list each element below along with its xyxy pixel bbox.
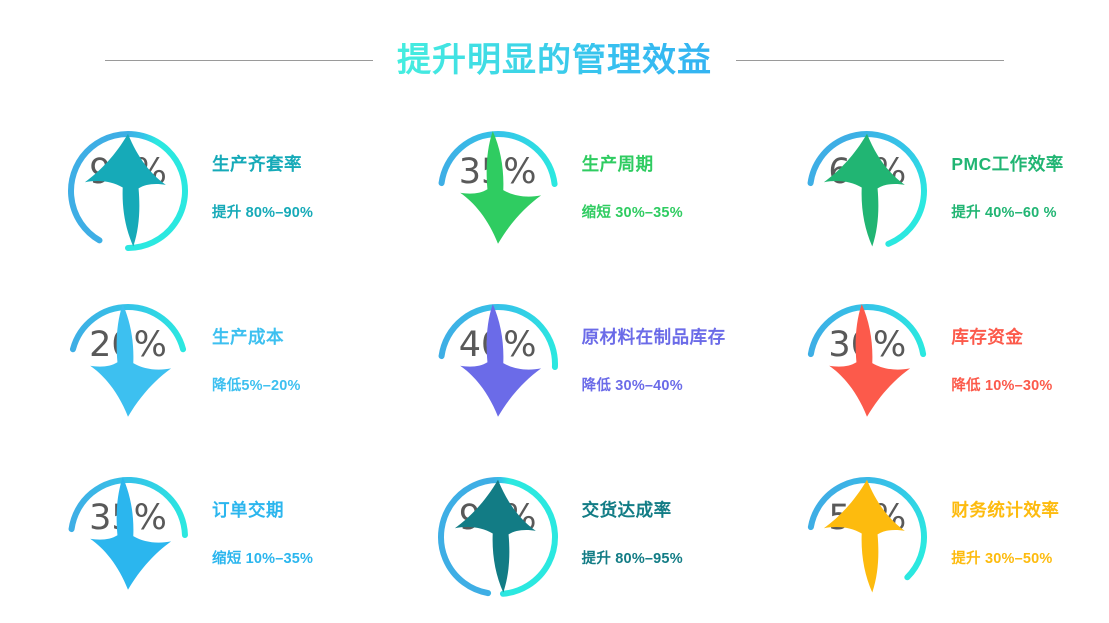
metric-subtitle: 降低5%–20% [212, 374, 301, 395]
header-rule-right [736, 60, 1004, 61]
progress-ring: 95% [432, 471, 564, 603]
metric-subtitle: 提升 30%–50% [951, 547, 1052, 568]
gauge-center: 90% [62, 125, 194, 257]
metric-texts: PMC工作效率 提升 40%–60 % [951, 154, 1063, 222]
metric-cell: 60% PMC工作效率 提升 40%–60 % [739, 104, 1109, 277]
metric-title: 原材料在制品库存 [582, 327, 726, 348]
gauge-center: 35% [62, 471, 194, 603]
gauge-center: 35% [432, 125, 564, 257]
metric-title: 生产成本 [212, 327, 284, 348]
gauge-center: 95% [432, 471, 564, 603]
metric-texts: 财务统计效率 提升 30%–50% [951, 500, 1059, 568]
metric-subtitle: 缩短 10%–35% [212, 547, 313, 568]
metric-texts: 生产成本 降低5%–20% [212, 327, 301, 395]
metric-title: 库存资金 [951, 327, 1023, 348]
progress-ring: 35% [432, 125, 564, 257]
metric-subtitle: 提升 80%–95% [582, 547, 683, 568]
progress-ring: 90% [62, 125, 194, 257]
metric-cell: 20% 生产成本 降低5%–20% [0, 277, 370, 450]
metric-cell: 90% 生产齐套率 提升 80%–90% [0, 104, 370, 277]
metric-subtitle: 降低 10%–30% [951, 374, 1052, 395]
metric-texts: 生产齐套率 提升 80%–90% [212, 154, 313, 222]
gauge-center: 50% [801, 471, 933, 603]
progress-ring: 60% [801, 125, 933, 257]
page-title: 提升明显的管理效益 [397, 43, 712, 77]
metric-texts: 订单交期 缩短 10%–35% [212, 500, 313, 568]
progress-ring: 40% [432, 298, 564, 430]
gauge-center: 40% [432, 298, 564, 430]
metric-subtitle: 提升 80%–90% [212, 201, 313, 222]
metric-subtitle: 提升 40%–60 % [951, 201, 1056, 222]
metric-cell: 50% 财务统计效率 提升 30%–50% [739, 450, 1109, 623]
metric-cell: 95% 交货达成率 提升 80%–95% [370, 450, 740, 623]
metric-title: PMC工作效率 [951, 154, 1063, 175]
gauge-center: 60% [801, 125, 933, 257]
gauge-center: 20% [62, 298, 194, 430]
metric-grid: 90% 生产齐套率 提升 80%–90% [0, 104, 1109, 623]
header-rule-left [105, 60, 373, 61]
metric-title: 生产周期 [582, 154, 654, 175]
metric-texts: 交货达成率 提升 80%–95% [582, 500, 683, 568]
metric-title: 交货达成率 [582, 500, 672, 521]
metric-title: 财务统计效率 [951, 500, 1059, 521]
gauge-center: 30% [801, 298, 933, 430]
progress-ring: 50% [801, 471, 933, 603]
metric-subtitle: 降低 30%–40% [582, 374, 683, 395]
progress-ring: 20% [62, 298, 194, 430]
metric-subtitle: 缩短 30%–35% [582, 201, 683, 222]
metric-texts: 生产周期 缩短 30%–35% [582, 154, 683, 222]
page-header: 提升明显的管理效益 [0, 34, 1109, 86]
metric-cell: 30% 库存资金 降低 10%–30% [739, 277, 1109, 450]
metric-cell: 35% 订单交期 缩短 10%–35% [0, 450, 370, 623]
progress-ring: 35% [62, 471, 194, 603]
metric-cell: 35% 生产周期 缩短 30%–35% [370, 104, 740, 277]
metric-title: 订单交期 [212, 500, 284, 521]
progress-ring: 30% [801, 298, 933, 430]
metric-cell: 40% 原材料在制品库存 降低 30%–40% [370, 277, 740, 450]
metric-texts: 原材料在制品库存 降低 30%–40% [582, 327, 726, 395]
metric-title: 生产齐套率 [212, 154, 302, 175]
metric-texts: 库存资金 降低 10%–30% [951, 327, 1052, 395]
